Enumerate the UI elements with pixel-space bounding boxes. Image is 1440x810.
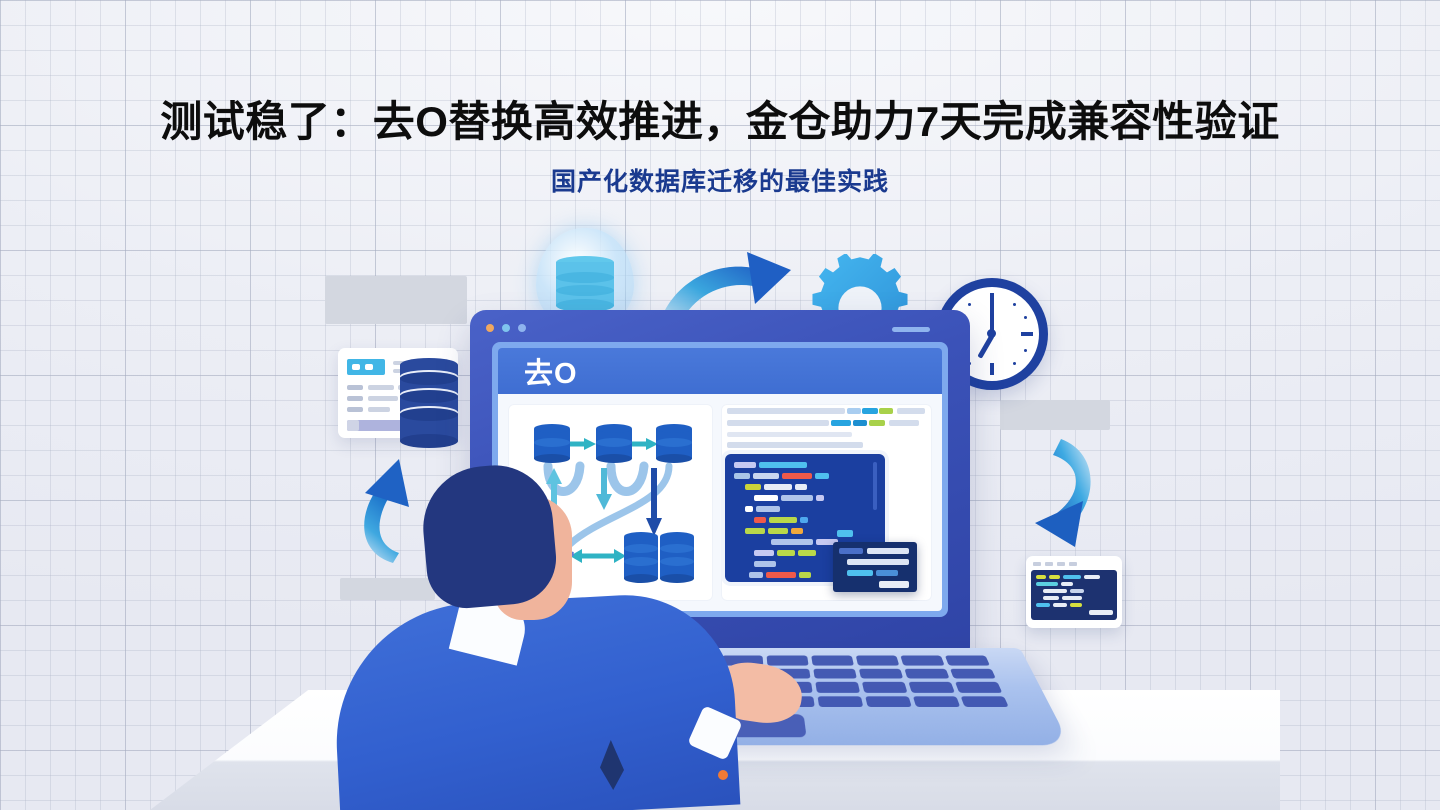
code-scrollbar (873, 462, 877, 510)
doc-line-2-hl-b (853, 420, 867, 426)
page-title: 测试稳了：去O替换高效推进，金仓助力7天完成兼容性验证 (0, 88, 1440, 149)
db-node-source (534, 424, 570, 464)
code-tok-9b (777, 550, 795, 556)
code-tok-3a (745, 484, 761, 490)
clock-tick-3 (1021, 332, 1033, 336)
code-tok-7b (768, 528, 788, 534)
mini-code-window-card (1026, 556, 1122, 628)
db-node-mid (596, 424, 632, 464)
mini-code-line-1d (1084, 575, 1100, 579)
mini-code-line-3b (1070, 589, 1084, 593)
code-tok-2d (815, 473, 829, 479)
clock-center-pin (987, 329, 996, 338)
card-line-7 (368, 396, 398, 401)
dialog-row-3a (847, 570, 873, 576)
window-dots (486, 324, 526, 332)
card-line-3 (347, 385, 363, 390)
window-dot-lightblue (502, 324, 510, 332)
page-subtitle: 国产化数据库迁移的最佳实践 (0, 162, 1440, 198)
card-line-4 (368, 385, 394, 390)
editor-overlay-dialog (833, 542, 917, 592)
mini-window-titlebar (1033, 562, 1117, 566)
code-tok-4c (816, 495, 824, 501)
doc-line-4 (727, 442, 863, 448)
clock-dot-4 (1024, 349, 1027, 352)
doc-line-1-hl-a (847, 408, 861, 414)
laptop-camera-bar (892, 327, 930, 332)
clock-dot-11 (968, 303, 971, 306)
doc-line-1-hl-c (879, 408, 893, 414)
code-tok-2a (734, 473, 750, 479)
card-line-9 (368, 407, 390, 412)
mini-code-line-6 (1089, 610, 1113, 615)
screen-header-bar: 去O (498, 348, 942, 394)
db-stack-a (624, 532, 658, 584)
code-tok-2b (753, 473, 779, 479)
db-node-target (656, 424, 692, 464)
code-tok-3b (764, 484, 792, 490)
doc-line-2 (727, 420, 829, 426)
code-tok-9c (798, 550, 816, 556)
developer-body (330, 590, 741, 810)
code-tok-11a (749, 572, 763, 578)
code-tok-5a (745, 506, 753, 512)
code-tok-5b (756, 506, 780, 512)
code-tok-4a (754, 495, 778, 501)
mini-code-line-2b (1061, 582, 1073, 586)
dialog-row-1a (839, 548, 863, 554)
clock-dot-2 (1024, 316, 1027, 319)
doc-line-1-end (897, 408, 925, 414)
code-tok-3c (795, 484, 807, 490)
code-tok-11c (799, 572, 811, 578)
arrow-right-down-icon (995, 435, 1120, 555)
window-dot-orange (486, 324, 494, 332)
placeholder-rect-mid-left (340, 578, 435, 600)
code-tok-7a (745, 528, 765, 534)
code-tok-4b (781, 495, 813, 501)
dialog-row-2 (847, 559, 909, 565)
database-cylinder-stack-left (400, 358, 458, 448)
card-footer-accent (347, 420, 359, 431)
mini-code-line-5c (1070, 603, 1082, 607)
doc-line-2-hl-c (869, 420, 885, 426)
mini-code-line-5a (1036, 603, 1050, 607)
code-tok-2c (782, 473, 812, 479)
mini-code-line-2a (1036, 582, 1058, 586)
placeholder-rect-right (1000, 400, 1110, 430)
orb-database-icon (556, 256, 614, 316)
db-stack-b (660, 532, 694, 584)
doc-line-2-end (889, 420, 919, 426)
code-tok-8a (771, 539, 813, 545)
card-badge-dot-a (352, 364, 360, 370)
dialog-row-3b (876, 570, 898, 576)
mini-code-line-1b (1049, 575, 1060, 579)
code-tok-6a (754, 517, 766, 523)
code-tok-1a (734, 462, 756, 468)
doc-line-1 (727, 408, 845, 414)
code-editor-panel (721, 404, 932, 601)
doc-line-3 (727, 432, 852, 437)
mini-code-line-4a (1043, 596, 1059, 600)
mini-code-line-1a (1036, 575, 1046, 579)
screen-header-label: 去O (524, 350, 578, 392)
sleeve-button (718, 770, 728, 780)
poster-canvas: 测试稳了：去O替换高效推进，金仓助力7天完成兼容性验证 国产化数据库迁移的最佳实… (0, 0, 1440, 810)
placeholder-rect-top-left (325, 276, 467, 324)
clock-dot-1 (1013, 303, 1016, 306)
dialog-row-1b (867, 548, 909, 554)
doc-line-2-hl-a (831, 420, 851, 426)
code-tok-11b (766, 572, 796, 578)
card-badge-dot-b (365, 364, 373, 370)
code-tok-9a (754, 550, 774, 556)
code-tok-1b (759, 462, 807, 468)
card-line-6 (347, 396, 363, 401)
mini-code-line-3a (1043, 589, 1067, 593)
editor-tab-chip (837, 530, 853, 537)
code-tok-6b (769, 517, 797, 523)
window-dot-blue (518, 324, 526, 332)
mini-code-line-4b (1062, 596, 1082, 600)
clock-dot-5 (1013, 362, 1016, 365)
mini-code-line-5b (1053, 603, 1067, 607)
mini-window-screen (1031, 570, 1117, 620)
clock-tick-6 (990, 363, 994, 375)
code-tok-6c (800, 517, 808, 523)
code-tok-10 (754, 561, 776, 567)
code-tok-7c (791, 528, 803, 534)
mini-code-line-1c (1063, 575, 1081, 579)
card-line-8 (347, 407, 363, 412)
dialog-confirm-button (879, 581, 909, 588)
doc-line-1-hl-b (862, 408, 878, 414)
